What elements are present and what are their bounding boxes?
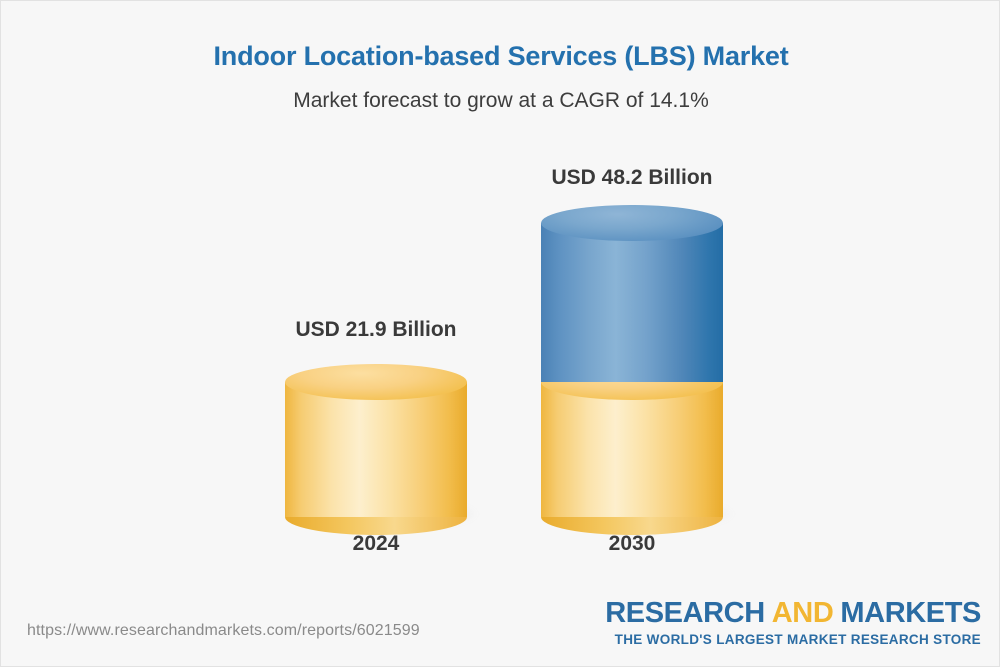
chart-page: Indoor Location-based Services (LBS) Mar… <box>0 0 1000 667</box>
bar-cylinder-2030 <box>541 205 723 517</box>
logo-tagline: THE WORLD'S LARGEST MARKET RESEARCH STOR… <box>605 632 981 647</box>
logo-wordmark: RESEARCHANDMARKETS <box>605 599 981 628</box>
bar-segment-2030-gold-base <box>541 382 723 517</box>
bar-body-2030-gold <box>541 382 723 517</box>
value-label-2024: USD 21.9 Billion <box>256 318 496 342</box>
page-subtitle: Market forecast to grow at a CAGR of 14.… <box>1 89 1000 113</box>
bar-top-cap-2024 <box>285 364 467 400</box>
brand-logo: RESEARCHANDMARKETS THE WORLD'S LARGEST M… <box>605 599 981 647</box>
bar-body-2024 <box>285 382 467 517</box>
bar-body-2030-blue <box>541 223 723 382</box>
logo-word-research: RESEARCH <box>605 597 765 629</box>
page-title: Indoor Location-based Services (LBS) Mar… <box>1 41 1000 72</box>
bar-segment-2024-gold <box>285 382 467 517</box>
bar-segment-2030-blue-growth <box>541 223 723 382</box>
bar-cylinder-2024 <box>285 364 467 517</box>
logo-word-markets: MARKETS <box>840 597 981 629</box>
value-label-2030: USD 48.2 Billion <box>512 166 752 190</box>
report-url[interactable]: https://www.researchandmarkets.com/repor… <box>27 622 420 640</box>
category-label-2030: 2030 <box>532 532 732 556</box>
bar-top-cap-2030 <box>541 205 723 241</box>
category-label-2024: 2024 <box>276 532 476 556</box>
logo-word-and: AND <box>772 597 834 629</box>
